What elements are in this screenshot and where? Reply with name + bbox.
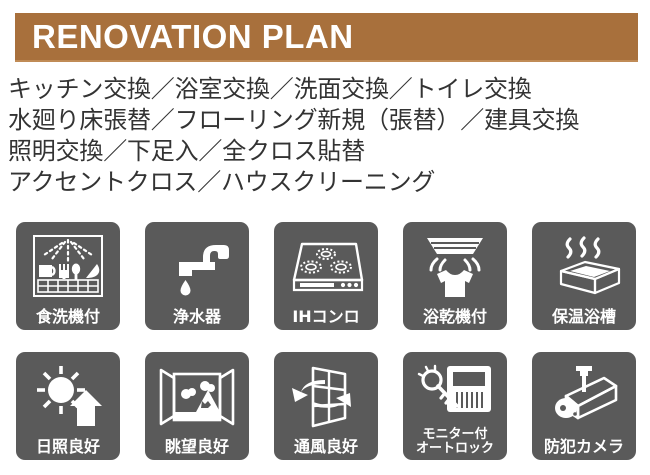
- feature-label-line2: オートロック: [416, 442, 494, 456]
- feature-tile-water-purifier: 浄水器: [145, 222, 249, 330]
- feature-tile-monitor-autolock: モニター付 オートロック: [403, 352, 507, 460]
- feature-label: 浄水器: [173, 308, 221, 330]
- spec-line: 水廻り床張替／フローリング新規（張替）／建具交換: [8, 105, 648, 136]
- sunlight-house-icon: [16, 352, 120, 438]
- feature-label-line1: モニター付: [422, 427, 487, 442]
- feature-tile-security-camera: 防犯カメラ: [532, 352, 636, 460]
- security-camera-icon: [532, 352, 636, 438]
- bathroom-dryer-icon: [403, 222, 507, 308]
- renovation-spec-list: キッチン交換／浴室交換／洗面交換／トイレ交換 水廻り床張替／フローリング新規（張…: [8, 74, 648, 198]
- monitor-autolock-icon: [403, 352, 507, 428]
- spec-line: アクセントクロス／ハウスクリーニング: [8, 167, 648, 198]
- feature-label: 眺望良好: [165, 438, 229, 460]
- dishwasher-icon: [16, 222, 120, 308]
- feature-label: 日照良好: [36, 438, 100, 460]
- feature-tile-good-ventilation: 通風良好: [274, 352, 378, 460]
- feature-tile-good-sunlight: 日照良好: [16, 352, 120, 460]
- spec-line: キッチン交換／浴室交換／洗面交換／トイレ交換: [8, 74, 648, 105]
- feature-label: 通風良好: [294, 438, 358, 460]
- insulated-bathtub-icon: [532, 222, 636, 308]
- page-title: RENOVATION PLAN: [15, 20, 354, 53]
- spec-line: 照明交換／下足入／全クロス貼替: [8, 136, 648, 167]
- feature-tile-dishwasher: 食洗機付: [16, 222, 120, 330]
- ventilation-window-icon: [274, 352, 378, 438]
- feature-tile-bathroom-dryer: 浴乾機付: [403, 222, 507, 330]
- feature-tile-good-view: 眺望良好: [145, 352, 249, 460]
- feature-label: 食洗機付: [36, 308, 100, 330]
- feature-label: 浴乾機付: [423, 308, 487, 330]
- feature-label: 防犯カメラ: [544, 438, 624, 460]
- feature-label: IHコンロ: [292, 308, 359, 330]
- feature-tile-insulated-bathtub: 保温浴槽: [532, 222, 636, 330]
- feature-icon-grid: 食洗機付 浄水器: [16, 222, 636, 460]
- water-purifier-faucet-icon: [145, 222, 249, 308]
- feature-label: 保温浴槽: [552, 308, 616, 330]
- feature-tile-ih-cooktop: IHコンロ: [274, 222, 378, 330]
- ih-cooktop-icon: [274, 222, 378, 308]
- feature-label: モニター付 オートロック: [416, 428, 494, 460]
- header-banner: RENOVATION PLAN: [15, 13, 638, 62]
- window-view-icon: [145, 352, 249, 438]
